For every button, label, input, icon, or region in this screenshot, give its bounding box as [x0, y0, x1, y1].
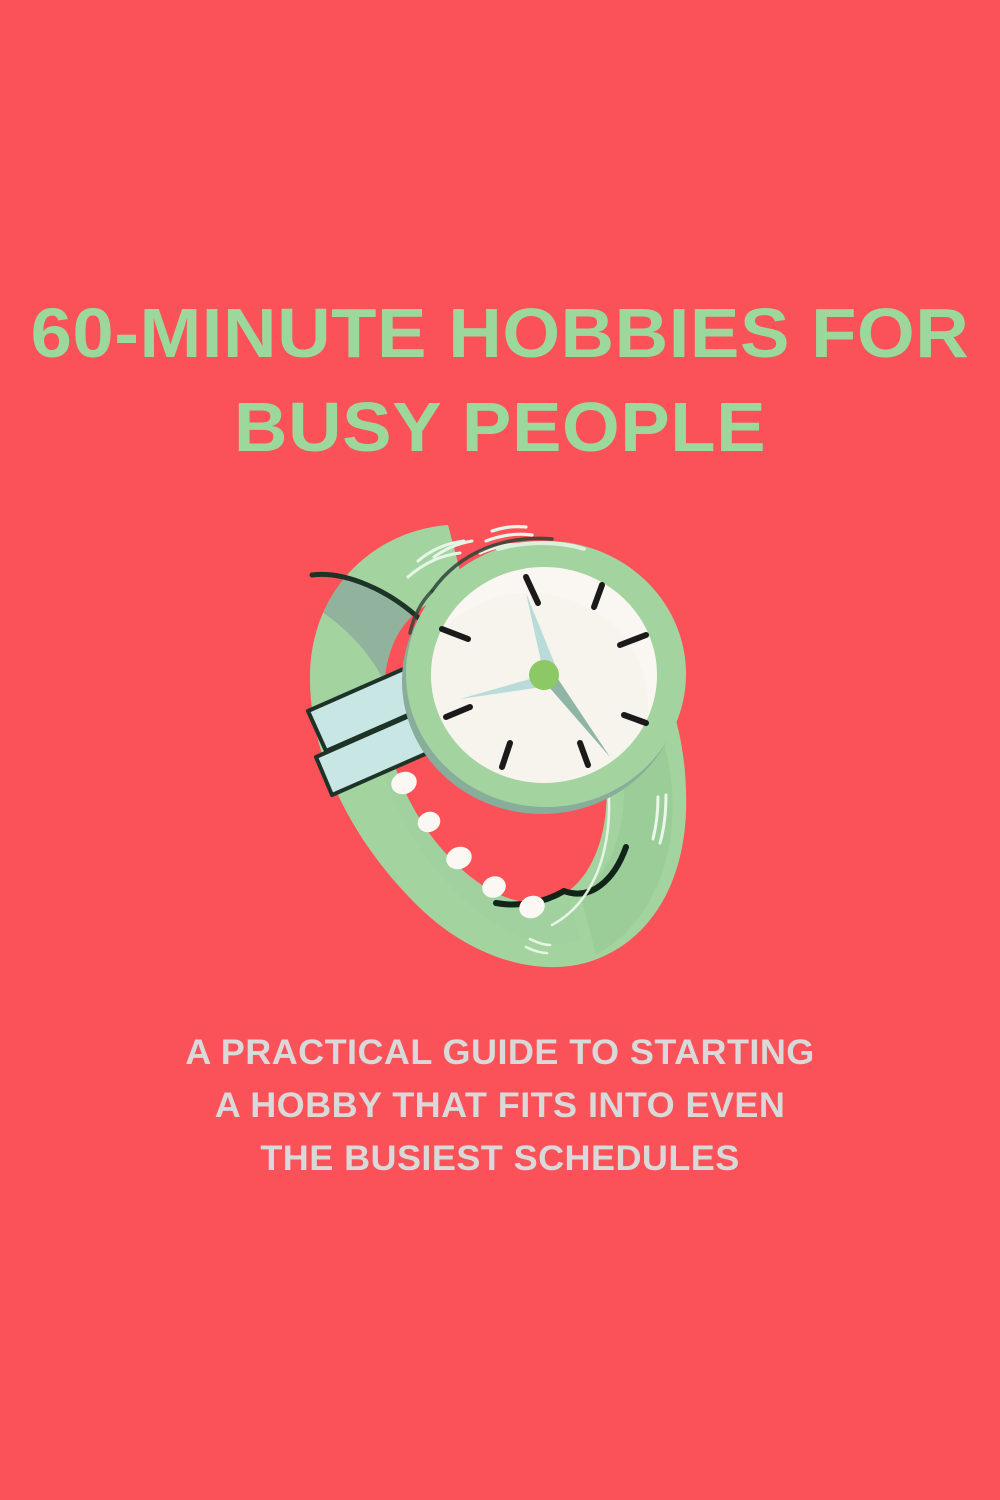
subtitle-line-2: A HOBBY THAT FITS INTO EVEN — [0, 1079, 1000, 1132]
page-title: 60-MINUTE HOBBIES FOR BUSY PEOPLE — [0, 286, 1000, 474]
subtitle-line-1: A PRACTICAL GUIDE TO STARTING — [0, 1026, 1000, 1079]
wristwatch-illustration — [280, 495, 720, 985]
title-line-2: BUSY PEOPLE — [0, 380, 1000, 474]
page-subtitle: A PRACTICAL GUIDE TO STARTING A HOBBY TH… — [0, 1026, 1000, 1185]
wristwatch-graphic — [280, 495, 720, 985]
dial-center-hub — [529, 660, 559, 690]
poster-canvas: 60-MINUTE HOBBIES FOR BUSY PEOPLE — [0, 0, 1000, 1500]
subtitle-line-3: THE BUSIEST SCHEDULES — [0, 1132, 1000, 1185]
title-line-1: 60-MINUTE HOBBIES FOR — [0, 286, 1000, 380]
